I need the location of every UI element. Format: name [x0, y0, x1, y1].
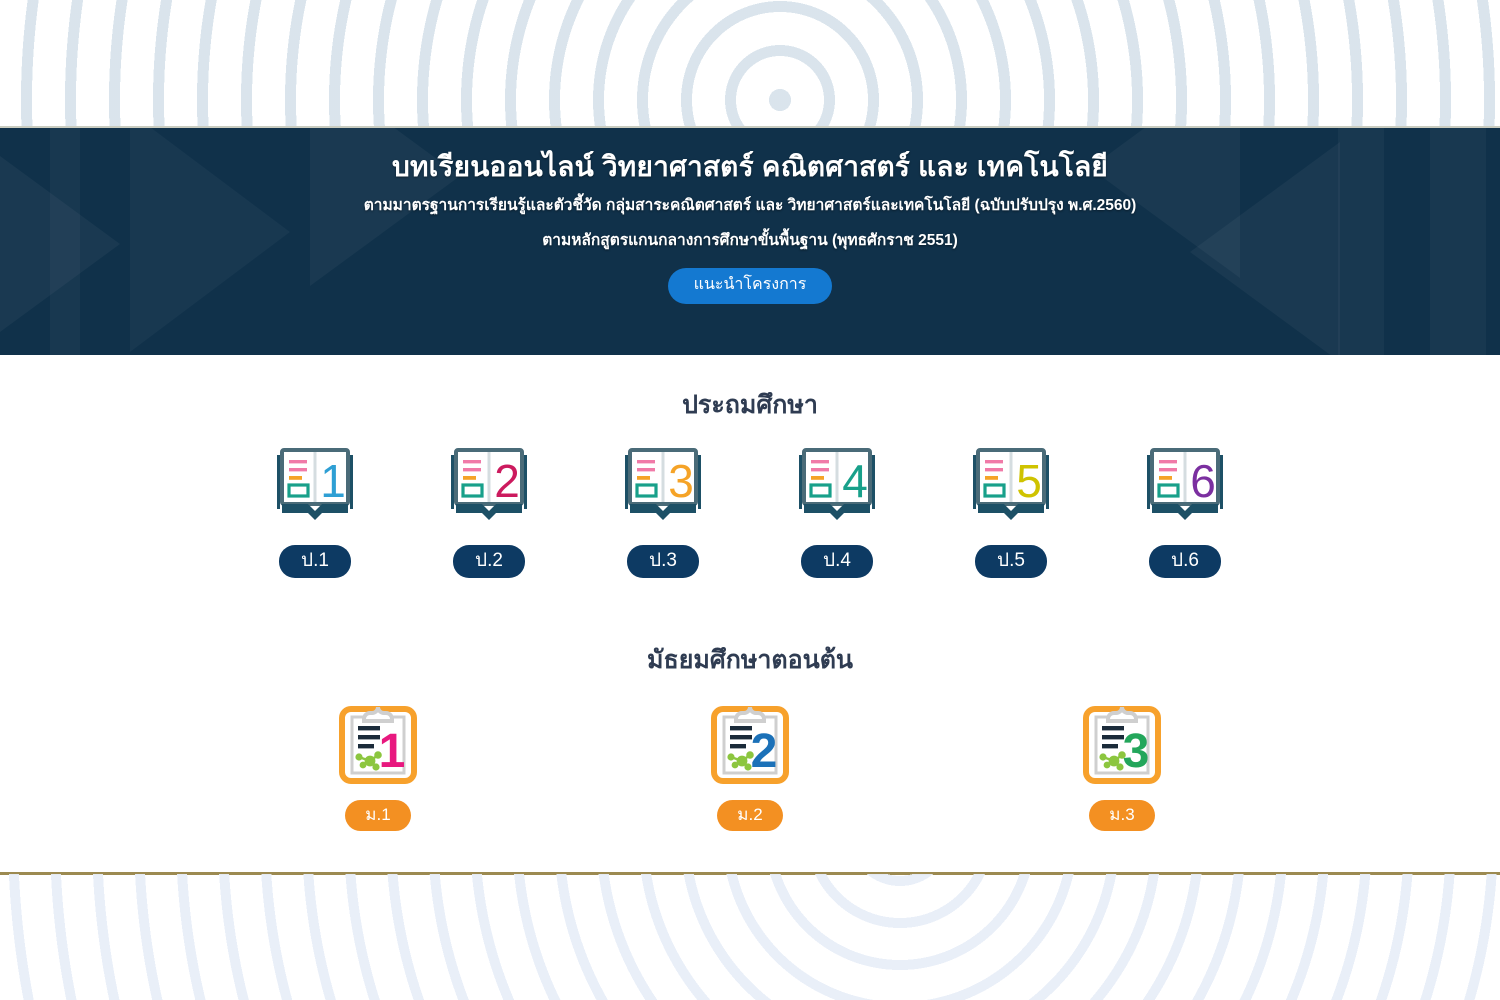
open-book-icon[interactable]: 2: [439, 441, 539, 527]
primary-section-heading: ประถมศึกษา: [0, 355, 1500, 425]
grade-label[interactable]: ม.1: [345, 800, 410, 831]
hero-subtitle-line-1: ตามมาตรฐานการเรียนรู้และตัวชี้วัด กลุ่มส…: [0, 196, 1500, 215]
grade-label[interactable]: ป.6: [1149, 545, 1221, 578]
clipboard-number: 2: [751, 725, 778, 778]
stripe-swirl: [0, 874, 1500, 1000]
book-number: 1: [320, 455, 346, 507]
book-number: 4: [842, 455, 868, 507]
project-intro-button[interactable]: แนะนำโครงการ: [668, 268, 833, 304]
primary-grade-row: 1 ป.1 2 ป.2: [0, 441, 1500, 578]
open-book-icon[interactable]: 5: [961, 441, 1061, 527]
clipboard-icon[interactable]: 2: [700, 698, 800, 784]
secondary-grade-row: 1 ม.1: [0, 698, 1500, 831]
grade-label[interactable]: ป.1: [279, 545, 351, 578]
hero-banner: บทเรียนออนไลน์ วิทยาศาสตร์ คณิตศาสตร์ แล…: [0, 128, 1500, 355]
stripe-swirl: [0, 0, 1500, 128]
footer-divider: [0, 872, 1500, 875]
grade-sections: ประถมศึกษา 1 ป.1: [0, 355, 1500, 831]
grade-label[interactable]: ป.3: [627, 545, 699, 578]
grade-label[interactable]: ป.2: [453, 545, 525, 578]
grade-label[interactable]: ป.4: [801, 545, 873, 578]
book-number: 6: [1190, 455, 1216, 507]
background-stripes-top: [0, 0, 1500, 128]
clipboard-icon[interactable]: 3: [1072, 698, 1172, 784]
clipboard-number: 1: [379, 725, 406, 778]
hero-subtitle-line-2: ตามหลักสูตรแกนกลางการศึกษาขั้นพื้นฐาน (พ…: [0, 231, 1500, 250]
clipboard-number: 3: [1123, 725, 1150, 778]
grade-label[interactable]: ม.2: [717, 800, 782, 831]
grade-card-m1[interactable]: 1 ม.1: [328, 698, 428, 831]
grade-card-p6[interactable]: 6 ป.6: [1135, 441, 1235, 578]
clipboard-icon[interactable]: 1: [328, 698, 428, 784]
grade-label[interactable]: ม.3: [1089, 800, 1154, 831]
secondary-section-heading: มัธยมศึกษาตอนต้น: [0, 578, 1500, 680]
open-book-icon[interactable]: 4: [787, 441, 887, 527]
grade-card-p1[interactable]: 1 ป.1: [265, 441, 365, 578]
book-number: 2: [494, 455, 520, 507]
grade-label[interactable]: ป.5: [975, 545, 1047, 578]
open-book-icon[interactable]: 3: [613, 441, 713, 527]
book-number: 3: [668, 455, 694, 507]
grade-card-p5[interactable]: 5 ป.5: [961, 441, 1061, 578]
background-stripes-bottom: [0, 874, 1500, 1000]
page-title: บทเรียนออนไลน์ วิทยาศาสตร์ คณิตศาสตร์ แล…: [0, 150, 1500, 184]
grade-card-p2[interactable]: 2 ป.2: [439, 441, 539, 578]
grade-card-p4[interactable]: 4 ป.4: [787, 441, 887, 578]
open-book-icon[interactable]: 6: [1135, 441, 1235, 527]
open-book-icon[interactable]: 1: [265, 441, 365, 527]
grade-card-m2[interactable]: 2 ม.2: [700, 698, 800, 831]
grade-card-p3[interactable]: 3 ป.3: [613, 441, 713, 578]
book-number: 5: [1016, 455, 1042, 507]
grade-card-m3[interactable]: 3 ม.3: [1072, 698, 1172, 831]
